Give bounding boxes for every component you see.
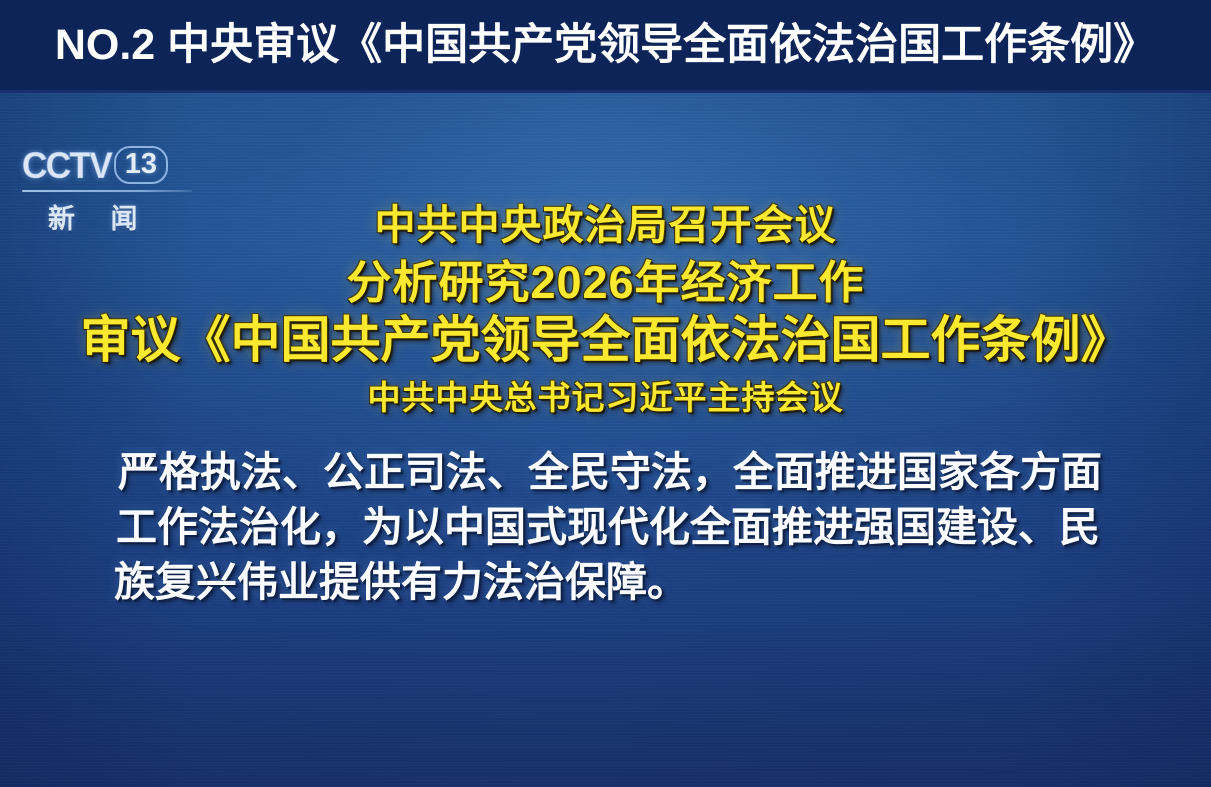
body-line-1: 严格执法、公正司法、全民守法，全面推进国家各方面 <box>108 445 1148 500</box>
headline-line-3: 审议《中国共产党领导全面依法治国工作条例》 <box>0 315 1211 365</box>
page-title: NO.2 中央审议《中国共产党领导全面依法治国工作条例》 <box>55 24 1156 67</box>
cctv-wordmark-icon: CCTV <box>22 147 111 184</box>
body-line-2: 工作法治化，为以中国式现代化全面推进强国建设、民 <box>108 500 1148 555</box>
headline-line-4: 中共中央总书记习近平主持会议 <box>0 381 1211 414</box>
header-divider <box>0 90 1211 93</box>
header-banner: NO.2 中央审议《中国共产党领导全面依法治国工作条例》 <box>0 0 1211 90</box>
channel-number-badge: 13 <box>114 146 168 184</box>
channel-logo-underline <box>22 190 192 192</box>
channel-logo-row: CCTV 13 <box>14 142 224 188</box>
broadcast-frame: CCTV 13 新 闻 中共中央政治局召开会议 分析研究2026年经济工作 审议… <box>0 93 1211 787</box>
body-line-3: 族复兴伟业提供有力法治保障。 <box>108 555 1148 610</box>
headline-line-1: 中共中央政治局召开会议 <box>0 205 1211 246</box>
headline-line-2: 分析研究2026年经济工作 <box>0 260 1211 305</box>
screenshot-root: NO.2 中央审议《中国共产党领导全面依法治国工作条例》 CCTV 13 新 闻… <box>0 0 1211 787</box>
body-text-block: 严格执法、公正司法、全民守法，全面推进国家各方面 工作法治化，为以中国式现代化全… <box>108 445 1148 610</box>
